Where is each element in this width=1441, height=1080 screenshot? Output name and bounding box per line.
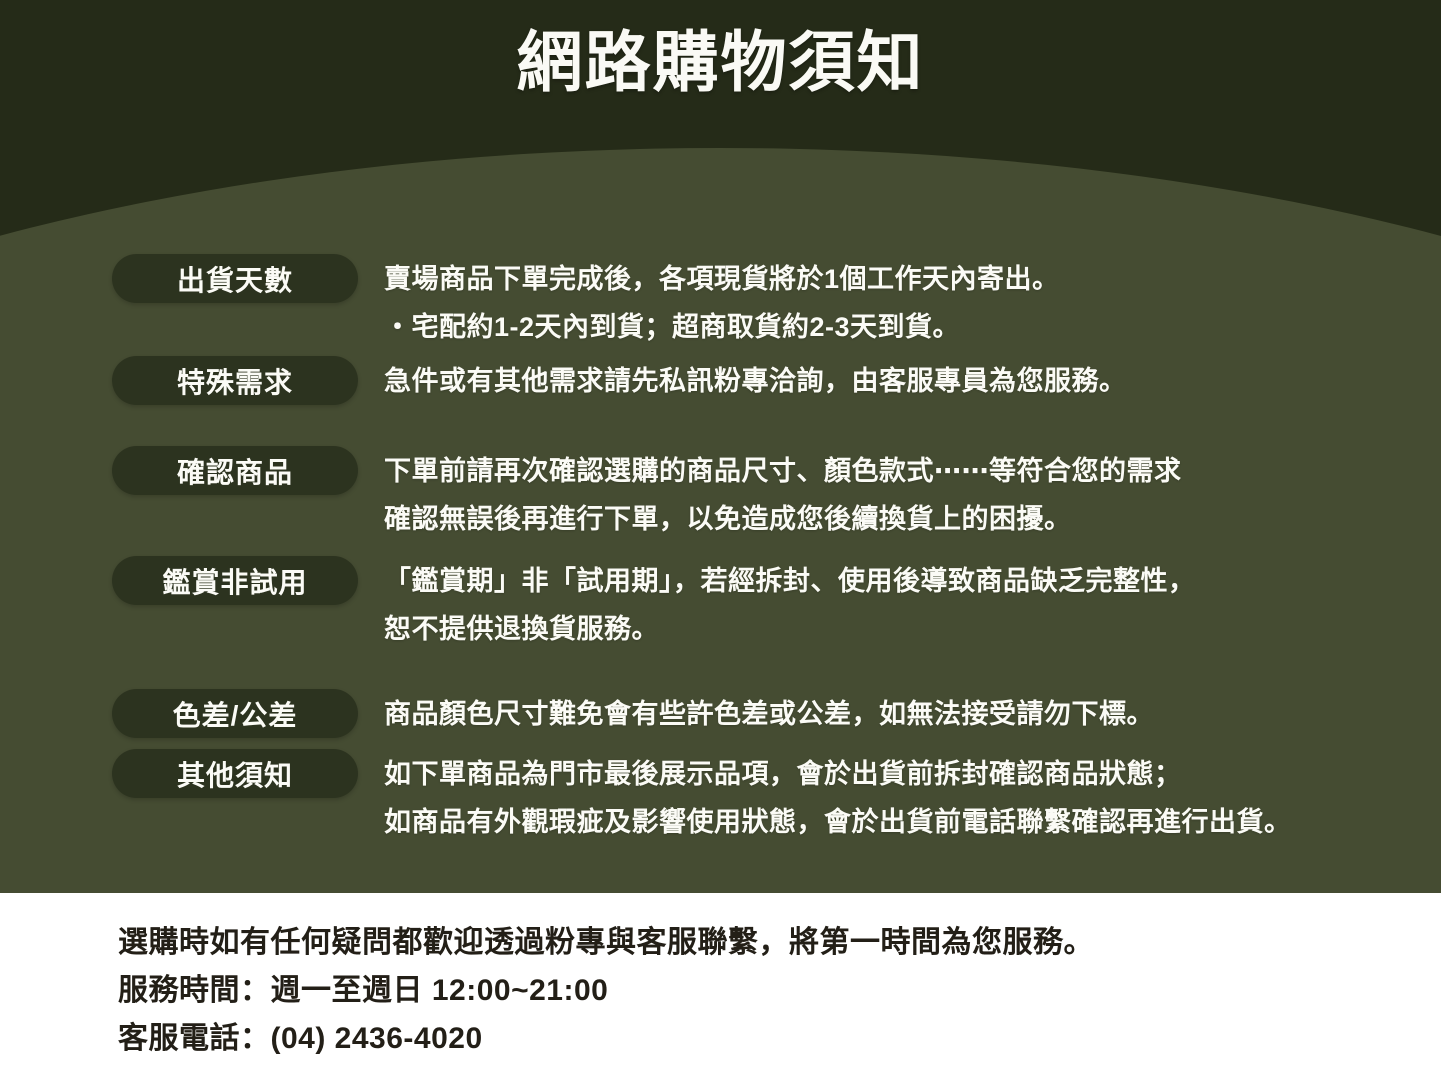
notice-row-line: 如下單商品為門市最後展示品項，會於出貨前拆封確認商品狀態； bbox=[384, 750, 1432, 798]
notice-panel: 網路購物須知 出貨天數 賣場商品下單完成後，各項現貨將於1個工作天內寄出。 ・宅… bbox=[0, 0, 1441, 893]
notice-row: 色差/公差 商品顏色尺寸難免會有些許色差或公差，如無法接受請勿下標。 bbox=[112, 689, 1432, 738]
notice-row-label: 色差/公差 bbox=[112, 689, 358, 738]
notice-row-list: 出貨天數 賣場商品下單完成後，各項現貨將於1個工作天內寄出。 ・宅配約1-2天內… bbox=[0, 0, 1441, 893]
notice-row-body: 如下單商品為門市最後展示品項，會於出貨前拆封確認商品狀態； 如商品有外觀瑕疵及影… bbox=[358, 749, 1432, 846]
notice-row: 確認商品 下單前請再次確認選購的商品尺寸、顏色款式⋯⋯等符合您的需求 確認無誤後… bbox=[112, 446, 1432, 543]
notice-row-body: 「鑑賞期」非「試用期」，若經拆封、使用後導致商品缺乏完整性， 恕不提供退換貨服務… bbox=[358, 556, 1432, 653]
footer-service-hours: 服務時間：週一至週日 12:00~21:00 bbox=[118, 967, 1441, 1015]
notice-row: 鑑賞非試用 「鑑賞期」非「試用期」，若經拆封、使用後導致商品缺乏完整性， 恕不提… bbox=[112, 556, 1432, 653]
notice-row-body: 賣場商品下單完成後，各項現貨將於1個工作天內寄出。 ・宅配約1-2天內到貨；超商… bbox=[358, 254, 1432, 351]
contact-footer: 選購時如有任何疑問都歡迎透過粉專與客服聯繫，將第一時間為您服務。 服務時間：週一… bbox=[0, 893, 1441, 1080]
notice-row-label: 特殊需求 bbox=[112, 356, 358, 405]
notice-row-body: 下單前請再次確認選購的商品尺寸、顏色款式⋯⋯等符合您的需求 確認無誤後再進行下單… bbox=[358, 446, 1432, 543]
notice-row-line: 確認無誤後再進行下單，以免造成您後續換貨上的困擾。 bbox=[384, 495, 1432, 543]
footer-service-phone: 客服電話：(04) 2436-4020 bbox=[118, 1015, 1441, 1063]
notice-row: 其他須知 如下單商品為門市最後展示品項，會於出貨前拆封確認商品狀態； 如商品有外… bbox=[112, 749, 1432, 846]
notice-row-line: 恕不提供退換貨服務。 bbox=[384, 605, 1432, 653]
page-title: 網路購物須知 bbox=[0, 28, 1441, 97]
notice-row-line: ・宅配約1-2天內到貨；超商取貨約2-3天到貨。 bbox=[384, 303, 1432, 351]
notice-row-line: 下單前請再次確認選購的商品尺寸、顏色款式⋯⋯等符合您的需求 bbox=[384, 447, 1432, 495]
notice-row-line: 賣場商品下單完成後，各項現貨將於1個工作天內寄出。 bbox=[384, 255, 1432, 303]
notice-row: 特殊需求 急件或有其他需求請先私訊粉專洽詢，由客服專員為您服務。 bbox=[112, 356, 1432, 405]
notice-row-body: 商品顏色尺寸難免會有些許色差或公差，如無法接受請勿下標。 bbox=[358, 689, 1432, 738]
footer-contact-intro: 選購時如有任何疑問都歡迎透過粉專與客服聯繫，將第一時間為您服務。 bbox=[118, 919, 1441, 967]
promo-notice-page: 網路購物須知 出貨天數 賣場商品下單完成後，各項現貨將於1個工作天內寄出。 ・宅… bbox=[0, 0, 1441, 1080]
notice-row-label: 出貨天數 bbox=[112, 254, 358, 303]
notice-row-label: 其他須知 bbox=[112, 749, 358, 798]
notice-row-line: 商品顏色尺寸難免會有些許色差或公差，如無法接受請勿下標。 bbox=[384, 690, 1432, 738]
notice-row-line: 如商品有外觀瑕疵及影響使用狀態，會於出貨前電話聯繫確認再進行出貨。 bbox=[384, 798, 1432, 846]
notice-row-label: 鑑賞非試用 bbox=[112, 556, 358, 605]
notice-row-label: 確認商品 bbox=[112, 446, 358, 495]
notice-row-line: 「鑑賞期」非「試用期」，若經拆封、使用後導致商品缺乏完整性， bbox=[384, 557, 1432, 605]
notice-row-body: 急件或有其他需求請先私訊粉專洽詢，由客服專員為您服務。 bbox=[358, 356, 1432, 405]
notice-row: 出貨天數 賣場商品下單完成後，各項現貨將於1個工作天內寄出。 ・宅配約1-2天內… bbox=[112, 254, 1432, 351]
notice-row-line: 急件或有其他需求請先私訊粉專洽詢，由客服專員為您服務。 bbox=[384, 357, 1432, 405]
